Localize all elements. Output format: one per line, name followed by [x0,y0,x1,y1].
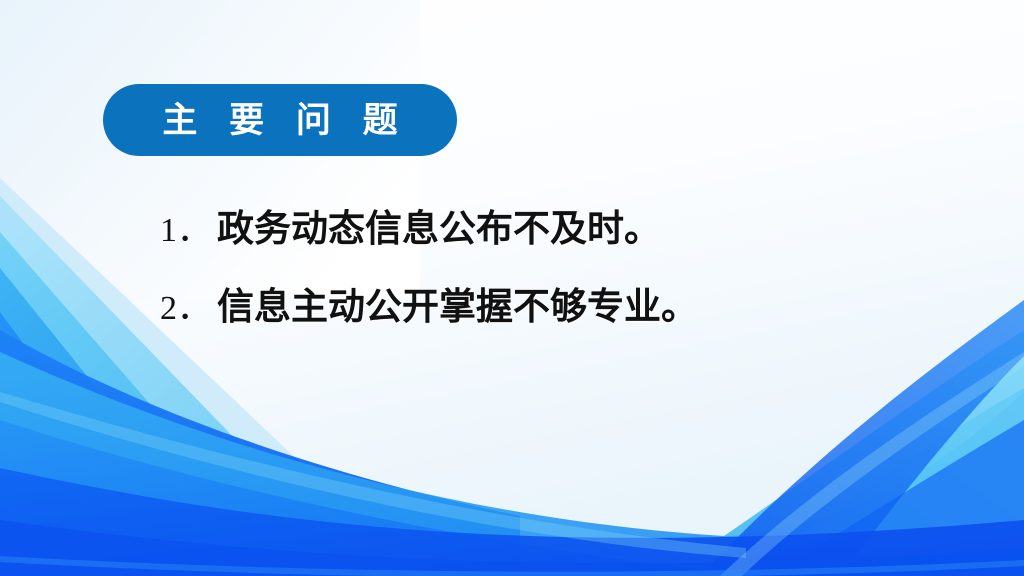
list-item-text: 信息主动公开掌握不够专业。 [217,284,698,330]
section-title-badge: 主 要 问 题 [103,84,457,156]
section-title-label: 主 要 问 题 [151,103,408,138]
list-item-text: 政务动态信息公布不及时。 [217,206,661,252]
list-item: 1． 政务动态信息公布不及时。 [160,206,920,253]
list-item-number: 2． [160,288,211,331]
list-item-number: 1． [160,210,211,253]
slide: 主 要 问 题 1． 政务动态信息公布不及时。 2． 信息主动公开掌握不够专业。 [0,0,1024,576]
list-item: 2． 信息主动公开掌握不够专业。 [160,284,920,331]
issue-list: 1． 政务动态信息公布不及时。 2． 信息主动公开掌握不够专业。 [160,206,920,330]
